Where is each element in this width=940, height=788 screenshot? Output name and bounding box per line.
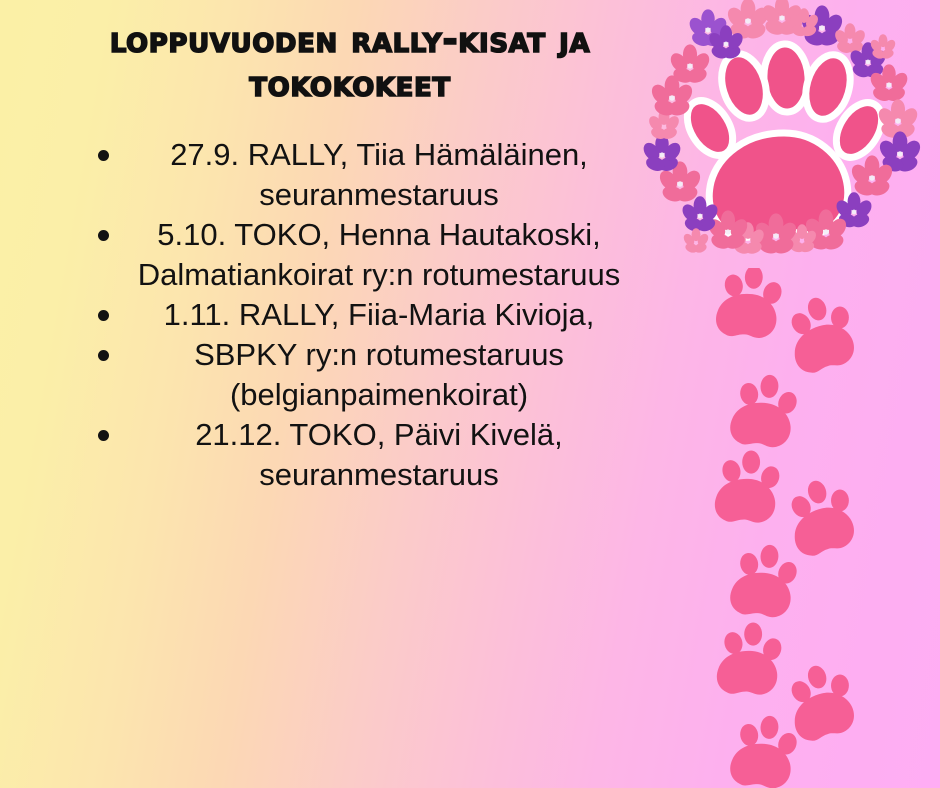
bullet-dot-icon xyxy=(98,350,109,361)
text-column: Loppuvuoden Rally-kisat ja tokokokeet 27… xyxy=(0,0,700,788)
bullet-dot-icon xyxy=(98,430,109,441)
large-paw-print xyxy=(678,43,891,237)
bullet-dot-icon xyxy=(98,230,109,241)
bullet-dot-icon xyxy=(98,310,109,321)
event-text: 1.11. RALLY, Fiia-Maria Kivioja, xyxy=(118,295,640,335)
event-text: SBPKY ry:n rotumestaruus (belgianpaimenk… xyxy=(118,335,640,415)
list-item: 21.12. TOKO, Päivi Kivelä, seuranmestaru… xyxy=(26,415,674,495)
event-text: 21.12. TOKO, Päivi Kivelä, seuranmestaru… xyxy=(118,415,640,495)
list-item: 5.10. TOKO, Henna Hautakoski, Dalmatiank… xyxy=(26,215,674,295)
event-text: 5.10. TOKO, Henna Hautakoski, Dalmatiank… xyxy=(118,215,640,295)
event-list: 27.9. RALLY, Tiia Hämäläinen, seuranmest… xyxy=(26,135,674,495)
bullet-dot-icon xyxy=(98,150,109,161)
poster-canvas: Loppuvuoden Rally-kisat ja tokokokeet 27… xyxy=(0,0,940,788)
paw-print-trail xyxy=(700,268,940,788)
list-item: SBPKY ry:n rotumestaruus (belgianpaimenk… xyxy=(26,335,674,415)
page-title: Loppuvuoden Rally-kisat ja tokokokeet xyxy=(26,18,674,105)
list-item: 1.11. RALLY, Fiia-Maria Kivioja, xyxy=(26,295,674,335)
list-item: 27.9. RALLY, Tiia Hämäläinen, seuranmest… xyxy=(26,135,674,215)
event-text: 27.9. RALLY, Tiia Hämäläinen, seuranmest… xyxy=(118,135,640,215)
